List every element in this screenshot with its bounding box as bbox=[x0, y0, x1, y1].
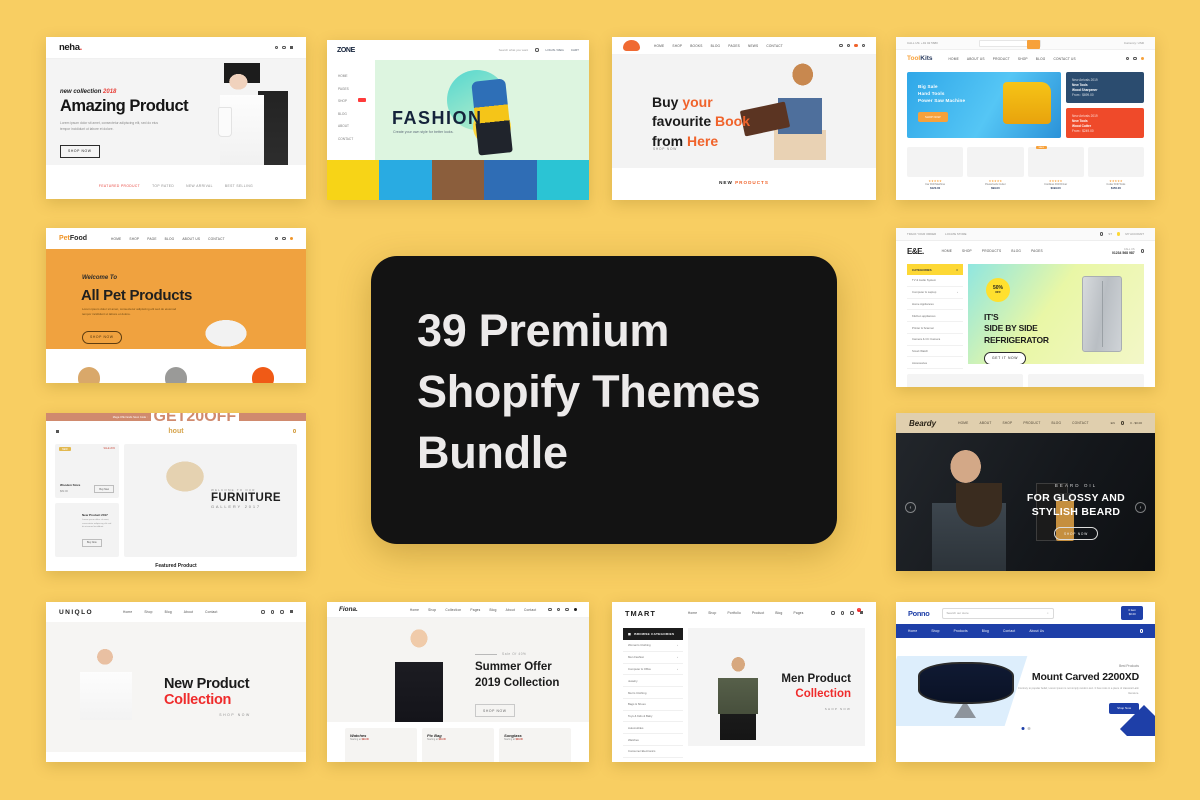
search-icon[interactable]: ⌕ bbox=[1047, 611, 1049, 615]
furniture-promo-column: NEW SALE 20% Wooden Store $82.00 Buy Now… bbox=[55, 444, 119, 557]
fiona-header: Fiona. Home Shop Collection Pages Blog A… bbox=[327, 602, 589, 618]
toolkits-topbar: CALL US: +91 02 5680 Currency: USD bbox=[896, 37, 1155, 50]
carousel-prev-button[interactable]: ‹ bbox=[905, 502, 916, 513]
nav-contact[interactable]: CONTACT bbox=[1072, 421, 1089, 425]
bookstore-nav[interactable]: HOME SHOP BOOKS BLOG PAGES NEWS CONTACT bbox=[654, 44, 783, 48]
product-card[interactable]: ★★★★★Car Drill Machine$120.00 bbox=[907, 147, 963, 190]
category-card[interactable]: Pic BagStarting at $49.00 bbox=[422, 728, 494, 762]
category-item[interactable]: Consumer Electronics bbox=[623, 746, 683, 758]
nav-pages[interactable]: Pages bbox=[470, 608, 480, 612]
theme-thumbnail-uniqlo[interactable]: UNIQLO Home Shop Blog About Contact New … bbox=[46, 602, 306, 762]
nav-about-us[interactable]: About Us bbox=[1029, 629, 1044, 633]
search-icon[interactable] bbox=[535, 48, 538, 51]
strip-tile-3[interactable] bbox=[432, 160, 484, 200]
carousel-dot-1[interactable] bbox=[1021, 727, 1024, 730]
category-item[interactable]: Jewelry bbox=[623, 675, 683, 687]
search-icon[interactable] bbox=[548, 608, 551, 611]
nav-blog[interactable]: BLOG bbox=[1011, 249, 1021, 253]
uniqlo-hero: New Product Collection SHOP NOW bbox=[46, 622, 306, 752]
shop-now-link[interactable]: SHOP NOW bbox=[164, 713, 306, 717]
cart-link[interactable]: CART bbox=[571, 48, 579, 52]
petfood-header: PetFood HOME SHOP PAGE BLOG ABOUT US CON… bbox=[46, 228, 306, 249]
eande-call-block: CALL US 01234 568 987 bbox=[1112, 248, 1135, 255]
refrigerator-image bbox=[1082, 276, 1122, 352]
nav-books[interactable]: BOOKS bbox=[690, 44, 702, 48]
toolkits-promo-column: New Arrivals 2019New ToolsWood Sharpener… bbox=[1066, 72, 1144, 138]
carousel-next-button[interactable]: › bbox=[1135, 502, 1146, 513]
tab-featured-product[interactable]: FEATURED PRODUCT bbox=[99, 184, 140, 188]
shop-now-link[interactable]: SHOP NOW bbox=[781, 707, 851, 711]
nav-home[interactable]: HOME bbox=[654, 44, 664, 48]
toolkits-promo-1[interactable]: New Arrivals 2019New ToolsWood Sharpener… bbox=[1066, 72, 1144, 103]
user-icon[interactable] bbox=[271, 610, 274, 613]
nav-shop[interactable]: SHOP bbox=[962, 249, 972, 253]
zone-sidebar-nav[interactable]: HOME PAGES SHOP BLOG ABOUT CONTACT bbox=[327, 60, 375, 160]
strip-tile-1[interactable] bbox=[327, 160, 379, 200]
cart-icon[interactable] bbox=[1141, 57, 1144, 60]
nav-pages[interactable]: PAGES bbox=[728, 44, 740, 48]
product-card[interactable]: SALE ★★★★★Cordless Drill Driver$199.00 bbox=[1028, 147, 1084, 190]
nav-blog[interactable]: BLOG bbox=[1036, 57, 1046, 61]
locate-store-link[interactable]: LOCATE STORE bbox=[945, 232, 966, 236]
nav-home[interactable]: HOME bbox=[949, 57, 959, 61]
neha-header-icons[interactable] bbox=[275, 46, 293, 49]
nav-products[interactable]: PRODUCTS bbox=[982, 249, 1002, 253]
theme-thumbnail-zone[interactable]: ZONE Search what you want LOGIN / REG CA… bbox=[327, 40, 589, 200]
nav-home[interactable]: Home bbox=[123, 610, 132, 614]
search-icon[interactable] bbox=[275, 46, 278, 49]
nav-shop[interactable]: SHOP bbox=[1002, 421, 1012, 425]
nav-contact[interactable]: Contact bbox=[1003, 629, 1015, 633]
product-price: $99.00 bbox=[967, 186, 1023, 190]
uniqlo-logo: UNIQLO bbox=[59, 609, 93, 616]
chevron-right-icon: › bbox=[677, 655, 678, 659]
nav-contact[interactable]: Contact bbox=[205, 610, 217, 614]
cart-total[interactable]: 0 - $0.00 bbox=[1130, 421, 1142, 425]
strip-tile-2[interactable] bbox=[379, 160, 431, 200]
zone-heading: FASHION bbox=[392, 108, 483, 129]
product-price: $150.00 bbox=[1088, 186, 1144, 190]
nav-about[interactable]: ABOUT bbox=[980, 421, 992, 425]
sale-badge: SALE bbox=[1036, 146, 1048, 149]
nav-about[interactable]: About bbox=[506, 608, 515, 612]
nav-product[interactable]: Product bbox=[752, 611, 764, 615]
sale-badge: SALE 20% bbox=[103, 447, 115, 450]
product-card[interactable] bbox=[907, 374, 1023, 387]
nav-shop[interactable]: Shop bbox=[708, 611, 716, 615]
sidebar-item-about[interactable]: ABOUT bbox=[338, 124, 375, 128]
search-icon[interactable] bbox=[275, 237, 278, 240]
card-sub: Starting at $49.00 bbox=[427, 738, 494, 741]
heart-icon[interactable] bbox=[565, 608, 568, 611]
beardy-shop-now-button[interactable]: SHOP NOW bbox=[1054, 527, 1098, 540]
promo-1-title: Wooden Store bbox=[60, 483, 80, 487]
category-item[interactable]: Camera & CC Camera bbox=[907, 334, 963, 346]
petfood-footer bbox=[46, 349, 306, 383]
sidebar-item-pages[interactable]: PAGES bbox=[338, 87, 375, 91]
hero-kicker: BEARD OIL bbox=[1011, 483, 1141, 488]
fiona-header-icons[interactable] bbox=[548, 608, 577, 611]
categories-title: ▦BROWSE CATEGORIES bbox=[623, 628, 683, 640]
category-item[interactable]: Men's Clothing bbox=[623, 687, 683, 699]
pet-images-row bbox=[46, 359, 306, 383]
user-icon[interactable] bbox=[282, 237, 285, 240]
track-order-link[interactable]: TRACK YOUR ORDER bbox=[907, 232, 936, 236]
search-input[interactable] bbox=[979, 40, 1041, 47]
beardy-header: Beardy HOME ABOUT SHOP PRODUCT BLOG CONT… bbox=[896, 413, 1155, 433]
ponno-header: Ponno Search our store ⌕ 0 item $0.00 bbox=[896, 602, 1155, 624]
eande-header: E&E. HOME SHOP PRODUCTS BLOG PAGES CALL … bbox=[896, 241, 1155, 261]
petfood-nav[interactable]: HOME SHOP PAGE BLOG ABOUT US CONTACT bbox=[111, 237, 225, 241]
uniqlo-header-icons[interactable] bbox=[261, 610, 293, 613]
fiona-model-image bbox=[383, 620, 455, 722]
eande-get-it-now-button[interactable]: GET IT NOW bbox=[984, 352, 1026, 365]
grid-icon: ▦ bbox=[628, 632, 631, 636]
fiona-hero: Sale Of 40% Summer Offer2019 Collection … bbox=[327, 618, 589, 722]
promo-card: 39 Premium Shopify Themes Bundle bbox=[371, 256, 837, 544]
furniture-hero[interactable]: WELCOME TO OUR FURNITURE GALLERY 2017 bbox=[124, 444, 297, 557]
category-item[interactable]: Bags & Shoes bbox=[623, 699, 683, 711]
ponno-hero-text: Best Products Mount Carved 2200XD Contra… bbox=[1017, 664, 1139, 714]
currency-select[interactable]: Currency: USD bbox=[1124, 41, 1144, 45]
category-item[interactable]: Computer & Office› bbox=[623, 664, 683, 676]
tab-new-arrival[interactable]: NEW ARRIVAL bbox=[186, 184, 213, 188]
category-item[interactable]: TV & Audio System bbox=[907, 275, 963, 287]
beardy-nav[interactable]: HOME ABOUT SHOP PRODUCT BLOG CONTACT bbox=[958, 421, 1089, 425]
product-image bbox=[967, 147, 1023, 177]
tab-best-selling[interactable]: BEST SELLING bbox=[225, 184, 253, 188]
beardy-hero-text: BEARD OIL FOR GLOSSY ANDSTYLISH BEARD SH… bbox=[1011, 483, 1141, 540]
tmart-header-icons[interactable]: 2 bbox=[831, 611, 863, 614]
menu-icon[interactable] bbox=[290, 46, 293, 49]
sidebar-item-shop[interactable]: SHOP bbox=[338, 99, 375, 103]
uniqlo-nav[interactable]: Home Shop Blog About Contact bbox=[123, 610, 217, 614]
nav-product[interactable]: PRODUCT bbox=[1023, 421, 1040, 425]
category-item[interactable]: Home Appliances bbox=[907, 299, 963, 311]
hero-kicker: Best Products bbox=[1017, 664, 1139, 668]
category-item[interactable]: Computer & Laptop› bbox=[907, 287, 963, 299]
toolkits-promo-2[interactable]: New Arrivals 2019New ToolsWood CutterFro… bbox=[1066, 108, 1144, 139]
beardy-header-right[interactable]: EN 0 - $0.00 bbox=[1111, 421, 1142, 425]
user-icon[interactable] bbox=[841, 611, 844, 614]
monitor-image bbox=[918, 662, 1014, 704]
promo-2-text: New Arrivals 2019New ToolsWood CutterFro… bbox=[1072, 114, 1144, 135]
heart-icon[interactable] bbox=[1121, 421, 1124, 424]
category-item[interactable]: Kitchen appliances bbox=[907, 310, 963, 322]
eande-topbar: TRACK YOUR ORDER LOCATE STORE ST MY ACCO… bbox=[896, 228, 1155, 241]
promo-2-text: Lorem ipsum dolor sit amet, consectetur … bbox=[82, 519, 114, 530]
bookstore-heading: Buy your favourite Book from Here bbox=[652, 93, 750, 151]
login-link[interactable]: LOGIN / REG bbox=[546, 48, 564, 52]
nav-portfolio[interactable]: Portfolio bbox=[727, 611, 741, 615]
eande-nav[interactable]: HOME SHOP PRODUCTS BLOG PAGES bbox=[942, 249, 1043, 253]
coffee-cup-image bbox=[218, 107, 232, 137]
bearded-man-image bbox=[910, 437, 1026, 571]
theme-thumbnail-toolkits[interactable]: CALL US: +91 02 5680 Currency: USD ToolK… bbox=[896, 37, 1155, 200]
nav-blog[interactable]: BLOG bbox=[1052, 421, 1062, 425]
zone-hero: FASHION Create your own style for better… bbox=[375, 60, 589, 160]
product-image bbox=[907, 147, 963, 177]
promo-title: 39 Premium Shopify Themes Bundle bbox=[417, 300, 797, 484]
sidebar-item-blog[interactable]: BLOG bbox=[338, 112, 375, 116]
tmart-hero-text: Men Product Collection SHOP NOW bbox=[781, 672, 851, 711]
nav-blog[interactable]: Blog bbox=[982, 629, 989, 633]
cart-total: $0.00 bbox=[1129, 612, 1136, 616]
new-badge: NEW bbox=[59, 447, 71, 451]
nav-blog[interactable]: Blog bbox=[775, 611, 782, 615]
bookstore-hero: Buy your favourite Book from Here SHOP N… bbox=[612, 55, 876, 168]
menu-icon[interactable] bbox=[290, 610, 293, 613]
nav-shop[interactable]: SHOP bbox=[1018, 57, 1028, 61]
dalmatian-image bbox=[186, 271, 266, 347]
sidebar-item-contact[interactable]: CONTACT bbox=[338, 137, 375, 141]
search-icon[interactable] bbox=[1027, 40, 1040, 49]
sidebar-item-home[interactable]: HOME bbox=[338, 74, 375, 78]
cart-badge: 2 bbox=[857, 608, 861, 612]
beard-image bbox=[956, 483, 1002, 527]
cart-icon[interactable] bbox=[574, 608, 577, 611]
tmart-logo: TMART bbox=[625, 609, 656, 618]
nav-news[interactable]: NEWS bbox=[748, 44, 758, 48]
petfood-heading: All Pet Products bbox=[81, 287, 192, 304]
nav-home[interactable]: Home bbox=[688, 611, 697, 615]
petfood-paragraph: Lorem ipsum dolor sit amet, consectetur … bbox=[82, 307, 178, 317]
nav-about-us[interactable]: ABOUT US bbox=[182, 237, 200, 241]
theme-thumbnail-tmart[interactable]: TMART Home Shop Portfolio Product Blog P… bbox=[612, 602, 876, 762]
fiona-shop-now-button[interactable]: SHOP NOW bbox=[475, 704, 515, 717]
nav-home[interactable]: HOME bbox=[111, 237, 121, 241]
nav-contact[interactable]: CONTACT bbox=[208, 237, 225, 241]
nav-about[interactable]: About bbox=[184, 610, 193, 614]
nav-shop[interactable]: Shop bbox=[428, 608, 436, 612]
cart-icon[interactable] bbox=[854, 44, 857, 47]
category-item[interactable]: Men Fashion› bbox=[623, 652, 683, 664]
cat-image bbox=[165, 367, 187, 383]
nav-shop[interactable]: SHOP bbox=[672, 44, 682, 48]
fiona-nav[interactable]: Home Shop Collection Pages Blog About Co… bbox=[410, 608, 537, 612]
hero-subheading: GALLERY 2017 bbox=[211, 504, 281, 509]
eande-topbar-right[interactable]: ST MY ACCOUNT bbox=[1100, 232, 1144, 236]
category-card[interactable]: SunglassStarting at $29.00 bbox=[499, 728, 571, 762]
theme-thumbnail-petfood[interactable]: PetFood HOME SHOP PAGE BLOG ABOUT US CON… bbox=[46, 228, 306, 383]
neha-model-image bbox=[196, 61, 288, 165]
nav-contact[interactable]: Contact bbox=[524, 608, 536, 612]
user-icon[interactable] bbox=[557, 608, 560, 611]
theme-thumbnail-bookstore[interactable]: HOME SHOP BOOKS BLOG PAGES NEWS CONTACT … bbox=[612, 37, 876, 200]
promo-line-1: 39 Premium bbox=[417, 305, 669, 356]
tmart-model-image bbox=[706, 652, 768, 740]
category-item[interactable]: Woman's Clothing› bbox=[623, 640, 683, 652]
zone-header: ZONE Search what you want LOGIN / REG CA… bbox=[327, 40, 589, 60]
toolkits-product-grid: ★★★★★Car Drill Machine$120.00 ★★★★★Power… bbox=[896, 143, 1155, 190]
nav-collection[interactable]: Collection bbox=[445, 608, 461, 612]
neha-shop-now-button[interactable]: SHOP NOW bbox=[60, 145, 100, 158]
theme-thumbnail-ponno[interactable]: Ponno Search our store ⌕ 0 item $0.00 Ho… bbox=[896, 602, 1155, 762]
cart-icon[interactable] bbox=[1117, 232, 1120, 235]
tmart-nav[interactable]: Home Shop Portfolio Product Blog Pages bbox=[688, 611, 804, 615]
theme-thumbnail-furniture[interactable]: Mega Offer Ends Soon Code :GET20OFF hout… bbox=[46, 413, 306, 571]
user-icon[interactable] bbox=[862, 44, 865, 47]
search-icon[interactable] bbox=[831, 611, 834, 614]
nav-shop[interactable]: Shop bbox=[144, 610, 152, 614]
discount-badge: 50%OFF bbox=[986, 278, 1010, 302]
furniture-body: NEW SALE 20% Wooden Store $82.00 Buy Now… bbox=[46, 441, 306, 557]
bookstore-footer: NEW PRODUCTS bbox=[612, 168, 876, 196]
furniture-footer: Featured Product bbox=[46, 557, 306, 571]
chevron-right-icon: › bbox=[677, 643, 678, 647]
neha-logo: neha. bbox=[59, 42, 82, 53]
cart-icon[interactable] bbox=[850, 611, 853, 614]
petfood-header-icons[interactable] bbox=[275, 237, 293, 240]
nav-blog[interactable]: BLOG bbox=[711, 44, 721, 48]
strip-tile-5[interactable] bbox=[537, 160, 589, 200]
search-input[interactable]: Search what you want bbox=[499, 48, 529, 52]
ponno-shop-now-button[interactable]: Shop Now bbox=[1109, 703, 1139, 714]
search-icon[interactable] bbox=[1141, 249, 1144, 252]
product-price: $120.00 bbox=[907, 186, 963, 190]
heart-icon[interactable] bbox=[847, 44, 850, 47]
promo-line-3: Bundle bbox=[417, 427, 568, 478]
cart-icon[interactable] bbox=[280, 610, 283, 613]
strip-tile-4[interactable] bbox=[484, 160, 536, 200]
search-icon[interactable] bbox=[839, 44, 842, 47]
bookstore-header-icons[interactable] bbox=[839, 44, 865, 47]
nav-blog[interactable]: Blog bbox=[489, 608, 496, 612]
nav-contact-us[interactable]: CONTACT US bbox=[1053, 57, 1075, 61]
eande-banner[interactable]: 50%OFF IT'SSIDE BY SIDEREFRIGERATOR GET … bbox=[968, 264, 1144, 364]
category-item[interactable]: All Accessories bbox=[623, 758, 683, 762]
call-number: 01234 568 987 bbox=[1112, 251, 1135, 255]
product-card[interactable] bbox=[1028, 374, 1144, 387]
ponno-nav[interactable]: Home Shop Products Blog Contact About Us bbox=[896, 624, 1155, 638]
nav-home[interactable]: Home bbox=[410, 608, 419, 612]
nav-pages[interactable]: PAGES bbox=[1031, 249, 1043, 253]
neha-footer-tabs[interactable]: FEATURED PRODUCT TOP RATED NEW ARRIVAL B… bbox=[46, 165, 306, 195]
promo-line-2: Shopify Themes bbox=[417, 366, 760, 417]
furniture-promo-2[interactable]: New Product 2017 Lorem ipsum dolor sit a… bbox=[55, 503, 119, 557]
compare-icon[interactable] bbox=[1126, 57, 1129, 60]
nav-contact[interactable]: CONTACT bbox=[766, 44, 783, 48]
search-icon[interactable] bbox=[261, 610, 264, 613]
nav-page[interactable]: PAGE bbox=[147, 237, 156, 241]
zone-category-strip[interactable] bbox=[327, 160, 589, 200]
category-item[interactable]: Accessories bbox=[907, 357, 963, 369]
furniture-logo: hout bbox=[168, 428, 183, 435]
cart-icon[interactable] bbox=[282, 46, 285, 49]
zone-subheading: Create your own style for better looks. bbox=[393, 130, 454, 134]
hero-heading: Men Product Collection bbox=[781, 672, 851, 702]
menu-icon[interactable]: ≡ bbox=[956, 268, 958, 272]
hero-heading: New Product Collection bbox=[164, 676, 306, 708]
banner-shop-now-button[interactable]: SHOP NOW bbox=[918, 112, 948, 122]
eande-product-row bbox=[896, 369, 1155, 387]
promo-2-buy-button[interactable]: Buy Now bbox=[82, 539, 102, 547]
toolkits-nav[interactable]: HOME ABOUT US PRODUCT SHOP BLOG CONTACT … bbox=[949, 57, 1076, 61]
fish-image bbox=[252, 367, 274, 383]
promo-1-buy-button[interactable]: Buy Now bbox=[94, 485, 114, 493]
dog-image bbox=[78, 367, 100, 383]
nav-home[interactable]: Home bbox=[908, 629, 917, 633]
category-item[interactable]: Watches bbox=[623, 734, 683, 746]
currency-select[interactable]: EN bbox=[1111, 421, 1115, 425]
tmart-hero[interactable]: Men Product Collection SHOP NOW bbox=[688, 628, 865, 746]
cart-button[interactable]: 0 item $0.00 bbox=[1121, 606, 1143, 620]
nav-about-us[interactable]: ABOUT US bbox=[967, 57, 985, 61]
drill-product-image bbox=[1003, 82, 1051, 124]
hero-heading: FURNITURE bbox=[211, 492, 281, 504]
cart-icon[interactable] bbox=[290, 237, 293, 240]
bookstore-logo-icon bbox=[623, 40, 640, 51]
theme-thumbnail-beardy[interactable]: Beardy HOME ABOUT SHOP PRODUCT BLOG CONT… bbox=[896, 413, 1155, 571]
search-input[interactable]: Search our store ⌕ bbox=[942, 608, 1054, 619]
nav-blog[interactable]: BLOG bbox=[165, 237, 175, 241]
furniture-hero-text: WELCOME TO OUR FURNITURE GALLERY 2017 bbox=[211, 488, 281, 509]
beardy-hero: BEARD OIL FOR GLOSSY ANDSTYLISH BEARD SH… bbox=[896, 433, 1155, 571]
nav-shop[interactable]: SHOP bbox=[129, 237, 139, 241]
tmart-categories[interactable]: ▦BROWSE CATEGORIES Woman's Clothing› Men… bbox=[623, 628, 683, 762]
category-item[interactable]: Automobiles bbox=[623, 722, 683, 734]
gear-icon[interactable] bbox=[1140, 629, 1143, 632]
carousel-dots[interactable] bbox=[1021, 727, 1030, 730]
ponno-logo: Ponno bbox=[908, 609, 930, 618]
petfood-kicker: Welcome To bbox=[82, 275, 117, 281]
heart-icon[interactable] bbox=[1100, 232, 1103, 235]
promo-1-price: $82.00 bbox=[60, 490, 68, 493]
product-image bbox=[1028, 147, 1084, 177]
zone-logo: ZONE bbox=[337, 47, 355, 54]
category-item[interactable]: Smart Watch bbox=[907, 346, 963, 358]
toolkits-header-icons[interactable] bbox=[1126, 57, 1144, 60]
nav-shop[interactable]: Shop bbox=[931, 629, 939, 633]
language-select[interactable]: ST bbox=[1108, 232, 1112, 236]
category-item[interactable]: Toys & Kids & Baby bbox=[623, 711, 683, 723]
theme-thumbnail-fiona[interactable]: Fiona. Home Shop Collection Pages Blog A… bbox=[327, 602, 589, 762]
category-card[interactable]: WatchesStarting at $99.00 bbox=[345, 728, 417, 762]
carousel-dot-2[interactable] bbox=[1027, 727, 1030, 730]
heart-icon[interactable] bbox=[1133, 57, 1136, 60]
nav-pages[interactable]: Pages bbox=[794, 611, 804, 615]
fiona-logo: Fiona. bbox=[339, 606, 358, 613]
toolkits-main-banner[interactable]: Big SaleHand ToolsPower Saw Machine SHOP… bbox=[907, 72, 1061, 138]
nav-products[interactable]: Products bbox=[954, 629, 968, 633]
nav-blog[interactable]: Blog bbox=[165, 610, 172, 614]
theme-thumbnail-neha[interactable]: neha. new collection 2018 Amazing Produc… bbox=[46, 37, 306, 199]
menu-icon[interactable] bbox=[56, 430, 59, 433]
furniture-promo-1[interactable]: NEW SALE 20% Wooden Store $82.00 Buy Now bbox=[55, 444, 119, 498]
chevron-right-icon: › bbox=[677, 667, 678, 671]
petfood-shop-now-button[interactable]: SHOP NOW bbox=[82, 331, 122, 344]
product-card[interactable]: ★★★★★Cutter Drill Tools$150.00 bbox=[1088, 147, 1144, 190]
my-account-link[interactable]: MY ACCOUNT bbox=[1125, 232, 1144, 236]
toolkits-banner-row: Big SaleHand ToolsPower Saw Machine SHOP… bbox=[896, 67, 1155, 143]
nav-home[interactable]: HOME bbox=[958, 421, 968, 425]
hero-heading: Summer Offer2019 Collection bbox=[475, 660, 559, 692]
bookstore-shop-now-button[interactable]: SHOP NOW bbox=[653, 147, 677, 151]
cart-icon[interactable] bbox=[293, 429, 296, 432]
nav-home[interactable]: HOME bbox=[942, 249, 952, 253]
furniture-announcement-bar: Mega Offer Ends Soon Code :GET20OFF bbox=[46, 413, 306, 421]
ponno-nav-items[interactable]: Home Shop Products Blog Contact About Us bbox=[908, 629, 1044, 633]
nav-product[interactable]: PRODUCT bbox=[993, 57, 1010, 61]
product-card[interactable]: ★★★★★Powertools Cutter$99.00 bbox=[967, 147, 1023, 190]
eande-categories[interactable]: CATEGORIES≡ TV & Audio System Computer &… bbox=[907, 264, 963, 369]
category-item[interactable]: Printer & Scanner bbox=[907, 322, 963, 334]
zone-header-right[interactable]: Search what you want LOGIN / REG CART bbox=[499, 48, 579, 52]
tab-top-rated[interactable]: TOP RATED bbox=[152, 184, 174, 188]
promo-1-text: New Arrivals 2019New ToolsWood Sharpener… bbox=[1072, 78, 1144, 99]
menu-icon[interactable] bbox=[860, 611, 863, 614]
theme-thumbnail-eande[interactable]: TRACK YOUR ORDER LOCATE STORE ST MY ACCO… bbox=[896, 228, 1155, 387]
